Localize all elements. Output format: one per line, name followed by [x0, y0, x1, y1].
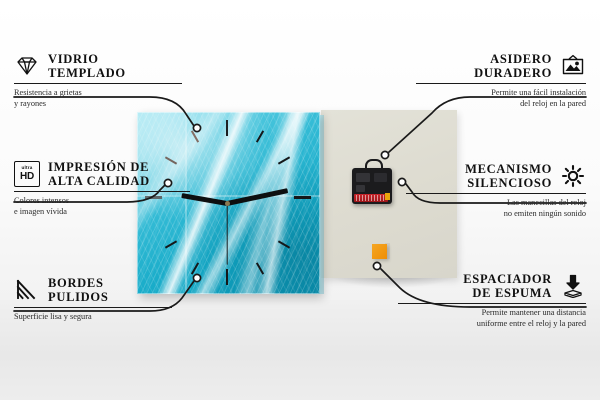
feature-mecanismo-silencioso: MECANISMO SILENCIOSO	[406, 162, 586, 219]
feature-desc-line1: Resistencia a grietas	[14, 88, 184, 99]
movement-detail	[374, 173, 387, 182]
feature-desc-line1: Permite mantener una distancia	[398, 308, 586, 319]
movement-detail	[356, 173, 370, 182]
ultra-hd-badge-icon: ultra HD	[14, 161, 40, 187]
feature-espaciador-de-espuma: ESPACIADOR DE ESPUMA Permite mantener un…	[398, 272, 586, 329]
battery-positive-tip	[385, 193, 390, 200]
feature-desc-line2: y rayones	[14, 99, 184, 110]
feature-rule	[406, 193, 586, 194]
feature-vidrio-templado: VIDRIO TEMPLADO Resistencia a grietas y …	[14, 52, 184, 109]
feature-title-line1: IMPRESIÓN DE	[48, 160, 150, 174]
feature-impresion-alta-calidad: ultra HD IMPRESIÓN DE ALTA CALIDAD Color…	[14, 160, 190, 217]
clock-center-cap	[225, 201, 230, 206]
feature-desc-line2: del reloj en la pared	[416, 99, 586, 110]
hanging-frame-icon	[560, 53, 586, 79]
feature-desc-line1: Las manecillas del reloj	[406, 198, 586, 209]
feature-title-line2: PULIDOS	[48, 290, 108, 304]
gear-icon	[560, 163, 586, 189]
feature-title-line1: VIDRIO	[48, 52, 126, 66]
feature-title-line1: BORDES	[48, 276, 108, 290]
infographic-canvas: VIDRIO TEMPLADO Resistencia a grietas y …	[0, 0, 600, 400]
feature-title-line1: ASIDERO	[474, 52, 552, 66]
feature-title-line1: ESPACIADOR	[463, 272, 552, 286]
movement-detail	[356, 185, 365, 192]
feature-asidero-duradero: ASIDERO DURADERO Permite una fácil insta…	[416, 52, 586, 109]
polished-edges-icon	[14, 277, 40, 303]
feature-title-line2: DURADERO	[474, 66, 552, 80]
feature-rule	[14, 83, 182, 84]
feature-desc-line1: Colores intensos	[14, 196, 190, 207]
feature-rule	[14, 191, 190, 192]
feature-desc-line2: e imagen vívida	[14, 207, 190, 218]
feature-rule	[14, 307, 172, 308]
feature-desc-line2: no emiten ningún sonido	[406, 209, 586, 220]
feature-rule	[398, 303, 586, 304]
clock-tick	[226, 120, 228, 136]
battery-label-stripes	[356, 195, 384, 201]
clock-tick	[294, 196, 311, 199]
clock-second-hand	[226, 203, 227, 265]
feature-desc-line1: Permite una fácil instalación	[416, 88, 586, 99]
feature-title-line2: DE ESPUMA	[463, 286, 552, 300]
feature-title-line2: TEMPLADO	[48, 66, 126, 80]
feature-bordes-pulidos: BORDES PULIDOS Superficie lisa y segura	[14, 276, 174, 323]
feature-title-line2: SILENCIOSO	[465, 176, 552, 190]
feature-desc-line1: Superficie lisa y segura	[14, 312, 174, 323]
feature-rule	[416, 83, 586, 84]
foam-spacer-icon	[560, 273, 586, 299]
feature-title-line2: ALTA CALIDAD	[48, 174, 150, 188]
clock-tick	[226, 269, 228, 285]
foam-spacer	[372, 244, 387, 259]
feature-title-line1: MECANISMO	[465, 162, 552, 176]
glass-edge	[320, 115, 324, 294]
feature-desc-line2: uniforme entre el reloj y la pared	[398, 319, 586, 330]
diamond-icon	[14, 53, 40, 79]
hd-badge-main-text: HD	[20, 172, 34, 182]
